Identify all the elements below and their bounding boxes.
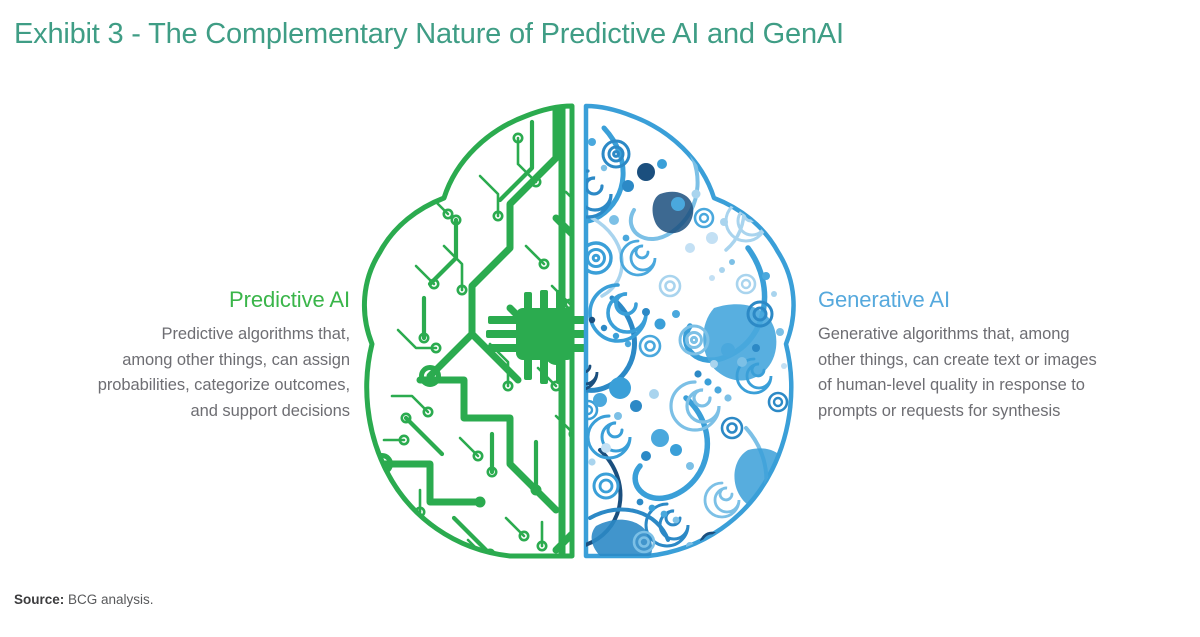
right-hemisphere-organic <box>549 106 794 564</box>
predictive-line-4: and support decisions <box>20 399 350 425</box>
split-brain-illustration <box>360 98 800 564</box>
generative-line-3: of human-level quality in response to <box>818 373 1174 399</box>
source-text: BCG analysis. <box>64 592 153 607</box>
predictive-ai-panel: Predictive AI Predictive algorithms that… <box>20 286 350 424</box>
source-note: Source: BCG analysis. <box>14 592 154 607</box>
generative-ai-heading: Generative AI <box>818 286 1174 314</box>
predictive-ai-description: Predictive algorithms that, among other … <box>20 322 350 424</box>
generative-ai-panel: Generative AI Generative algorithms that… <box>818 286 1174 424</box>
predictive-line-1: Predictive algorithms that, <box>20 322 350 348</box>
source-label: Source: <box>14 592 64 607</box>
generative-ai-description: Generative algorithms that, among other … <box>818 322 1174 424</box>
predictive-line-2: among other things, can assign <box>20 348 350 374</box>
generative-line-2: other things, can create text or images <box>818 348 1174 374</box>
predictive-line-3: probabilities, categorize outcomes, <box>20 373 350 399</box>
page-title: Exhibit 3 - The Complementary Nature of … <box>14 18 844 51</box>
predictive-ai-heading: Predictive AI <box>20 286 350 314</box>
generative-line-4: prompts or requests for synthesis <box>818 399 1174 425</box>
generative-line-1: Generative algorithms that, among <box>818 322 1174 348</box>
